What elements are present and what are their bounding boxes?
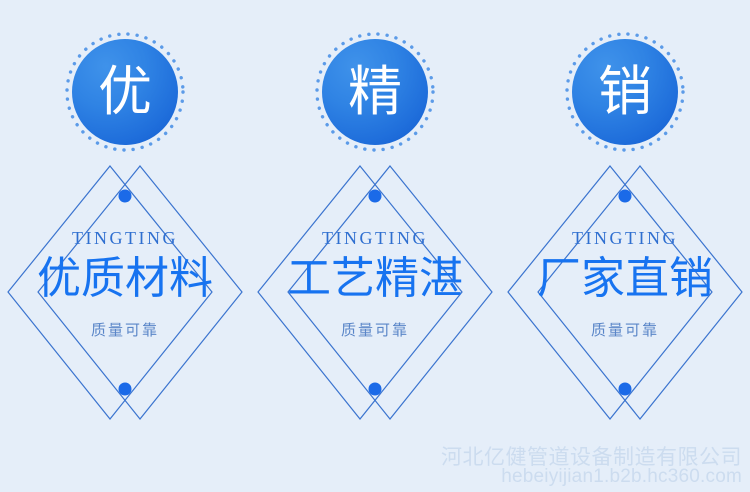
panel-subline: 质量可靠 (250, 319, 500, 340)
panel-subline: 质量可靠 (500, 319, 750, 340)
watermark-company: 河北亿健管道设备制造有限公司 (441, 446, 742, 469)
badge: 优 (63, 30, 187, 154)
panel-headline: 优质材料 (0, 254, 250, 303)
badge-character: 优 (63, 30, 187, 154)
watermark-url: hebeiyijian1.b2b.hc360.com (441, 467, 742, 488)
badge: 销 (563, 30, 687, 154)
feature-panels: 优 TINGTING 优质材料 质量可靠 (0, 0, 750, 440)
brand-latin: TINGTING (500, 228, 750, 250)
watermark: 河北亿健管道设备制造有限公司 hebeiyijian1.b2b.hc360.co… (441, 446, 742, 488)
panel-text: TINGTING 工艺精湛 质量可靠 (250, 228, 500, 340)
badge-character: 精 (313, 30, 437, 154)
panel-subline: 质量可靠 (0, 319, 250, 340)
promo-banner: 优 TINGTING 优质材料 质量可靠 (0, 0, 750, 492)
panel-text: TINGTING 优质材料 质量可靠 (0, 228, 250, 340)
panel-headline: 厂家直销 (500, 254, 750, 303)
panel-text: TINGTING 厂家直销 质量可靠 (500, 228, 750, 340)
panel-headline: 工艺精湛 (250, 254, 500, 303)
badge-character: 销 (563, 30, 687, 154)
feature-panel: 优 TINGTING 优质材料 质量可靠 (0, 0, 250, 440)
brand-latin: TINGTING (0, 228, 250, 250)
brand-latin: TINGTING (250, 228, 500, 250)
feature-panel: 精 TINGTING 工艺精湛 质量可靠 (250, 0, 500, 440)
badge: 精 (313, 30, 437, 154)
feature-panel: 销 TINGTING 厂家直销 质量可靠 (500, 0, 750, 440)
